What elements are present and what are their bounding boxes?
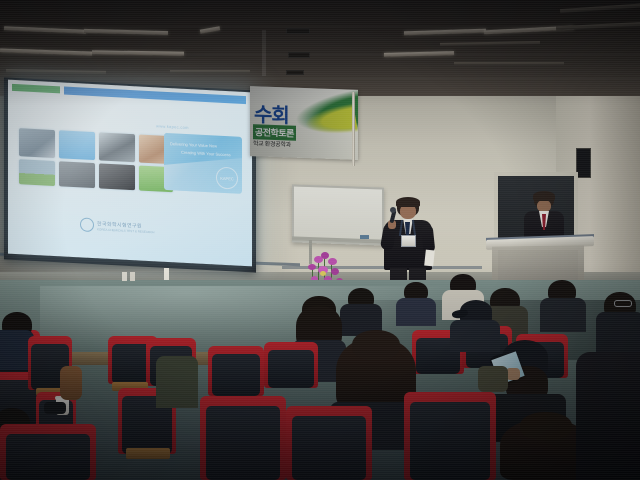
- ceiling-light: [84, 29, 168, 35]
- ceiling-vent: [286, 70, 304, 75]
- audience-with-cap: [448, 300, 502, 350]
- panel-headline-2: Creating With Your Success: [181, 150, 231, 158]
- ceiling-light: [440, 41, 540, 46]
- seat-cushion: [268, 350, 314, 388]
- floor-marker: [130, 272, 135, 281]
- seat-cushion: [292, 416, 366, 480]
- ceiling-light: [404, 29, 486, 36]
- slide-thumbnail-keyboard-photo: [99, 163, 135, 190]
- whiteboard-eraser: [360, 235, 369, 239]
- projection-screen: www.kapec.com Delivering Your Value Now …: [8, 80, 252, 267]
- slide-thumbnail-crowd-photo: [19, 128, 55, 158]
- projector-mount: [262, 30, 266, 76]
- ceiling-vent: [286, 28, 310, 34]
- audience-body: [156, 356, 198, 408]
- ceiling-light: [6, 69, 106, 75]
- slide-thumbnail-industrial-photo: [59, 161, 95, 188]
- slide-accent-green: [12, 84, 60, 94]
- slide-footer-logo: 한국화학시험연구원 KOREA CHEMICALS TEST & RESEARC…: [80, 217, 154, 235]
- audience-head: [352, 330, 400, 360]
- audience-shoe: [44, 402, 66, 414]
- audience-hand: [506, 368, 520, 380]
- slide-thumbnail-wheel-photo: [19, 159, 55, 186]
- ceiling-light: [454, 62, 564, 65]
- panel-headline-1: Delivering Your Value Now: [170, 141, 217, 148]
- audience-body: [540, 298, 586, 332]
- slide-url-text: www.kapec.com: [156, 123, 189, 130]
- ceiling-light: [556, 22, 640, 31]
- panel-logo-watermark: KAPEC: [216, 167, 238, 190]
- wall-speaker: [576, 148, 591, 178]
- slide-thumbnail-machining-photo: [99, 132, 135, 162]
- slide-feature-panel: Delivering Your Value Now Creating With …: [164, 133, 242, 194]
- floor-marker: [164, 268, 169, 280]
- ceiling-light: [200, 26, 220, 33]
- seat-cushion: [212, 354, 260, 396]
- eyeglasses-icon: [614, 300, 632, 307]
- microphone-head: [390, 207, 396, 213]
- audience-body: [450, 320, 500, 352]
- banner-shading: [250, 86, 358, 160]
- ceiling-light: [560, 3, 640, 13]
- banner-pole: [352, 92, 355, 166]
- ceiling-light: [170, 70, 250, 73]
- photograph-scene: www.kapec.com Delivering Your Value Now …: [0, 0, 640, 480]
- seat-armrest: [126, 448, 170, 459]
- seat-cushion: [206, 406, 280, 480]
- audience-arm: [60, 366, 82, 400]
- name-badge: [401, 235, 416, 247]
- seat-cushion: [6, 434, 90, 480]
- audience-body: [576, 352, 640, 480]
- ceiling-vent: [288, 52, 310, 58]
- ceiling-light: [384, 51, 454, 57]
- audience-body: [396, 298, 436, 326]
- audience-sleeve: [478, 366, 508, 392]
- slide-thumbnail-blue-sky-photo: [59, 130, 95, 160]
- paper-sheet: [424, 250, 435, 267]
- company-mark-icon: [80, 217, 94, 232]
- audience-body: [596, 312, 640, 352]
- floor-marker: [122, 272, 127, 281]
- seat-cushion: [410, 402, 490, 480]
- audience-head: [520, 412, 572, 440]
- ceiling-light: [4, 26, 86, 34]
